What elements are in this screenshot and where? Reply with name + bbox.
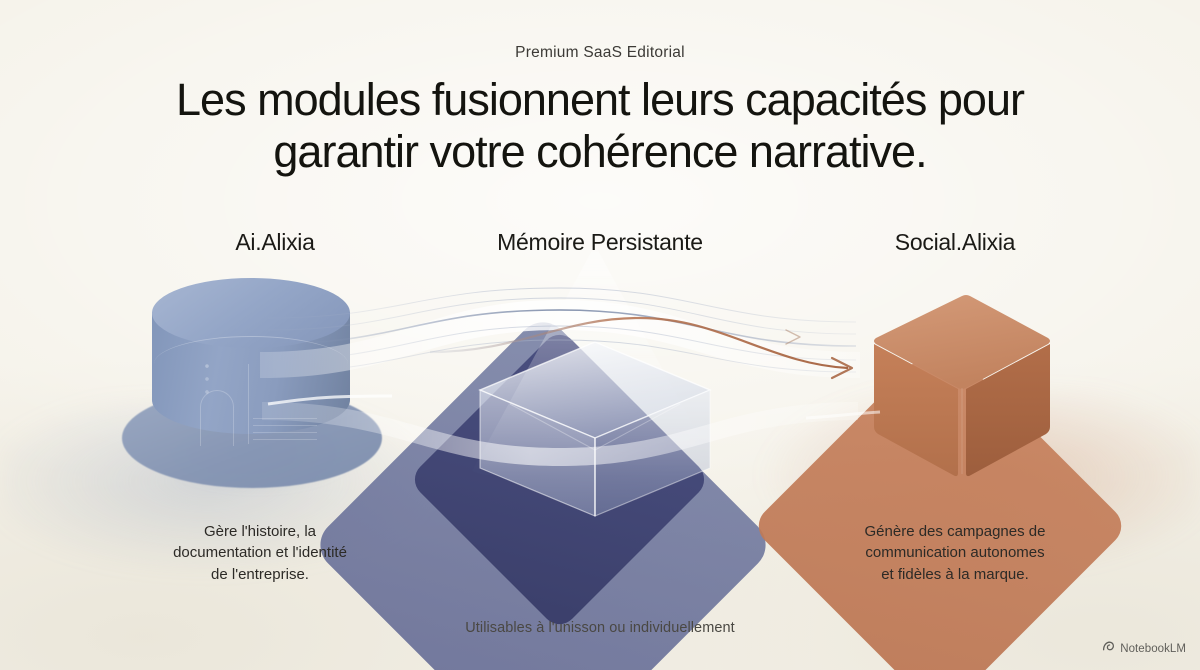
- caption-line: Gère l'histoire, la: [110, 521, 410, 542]
- headline-line-1: Les modules fusionnent leurs capacités p…: [176, 74, 1024, 125]
- watermark-label: NotebookLM: [1120, 643, 1186, 655]
- caption-line: documentation et l'identité: [110, 542, 410, 563]
- notebooklm-spiral-icon: [1102, 640, 1115, 658]
- caption-line: de l'entreprise.: [110, 564, 410, 585]
- module-label-memoire-persistante: Mémoire Persistante: [455, 229, 745, 256]
- eyebrow-label: Premium SaaS Editorial: [0, 44, 1200, 62]
- module-label-social-alixia: Social.Alixia: [810, 229, 1100, 256]
- module-shape-social-alixia[interactable]: [862, 288, 1062, 488]
- cylinder-vents-detail: [253, 418, 317, 446]
- module-caption-social-alixia: Génère des campagnes de communication au…: [805, 521, 1105, 585]
- cylinder-door-detail: [200, 390, 234, 446]
- cylinder-indicator-dots: [202, 362, 212, 396]
- module-shape-memoire-persistante[interactable]: [470, 330, 720, 530]
- module-label-ai-alixia: Ai.Alixia: [130, 229, 420, 256]
- slide-canvas: Premium SaaS Editorial Les modules fusio…: [0, 0, 1200, 670]
- module-shape-ai-alixia[interactable]: [140, 278, 362, 468]
- page-title: Les modules fusionnent leurs capacités p…: [0, 74, 1200, 178]
- caption-line: et fidèles à la marque.: [805, 564, 1105, 585]
- module-caption-ai-alixia: Gère l'histoire, la documentation et l'i…: [110, 521, 410, 585]
- caption-line: Génère des campagnes de: [805, 521, 1105, 542]
- headline-line-2: garantir votre cohérence narrative.: [0, 126, 1200, 178]
- footnote-text: Utilisables à l'unisson ou individuellem…: [0, 620, 1200, 636]
- notebooklm-watermark: NotebookLM: [1102, 640, 1186, 658]
- cylinder-seam: [154, 336, 348, 392]
- cylinder-panel-line: [248, 364, 249, 444]
- caption-line: communication autonomes: [805, 542, 1105, 563]
